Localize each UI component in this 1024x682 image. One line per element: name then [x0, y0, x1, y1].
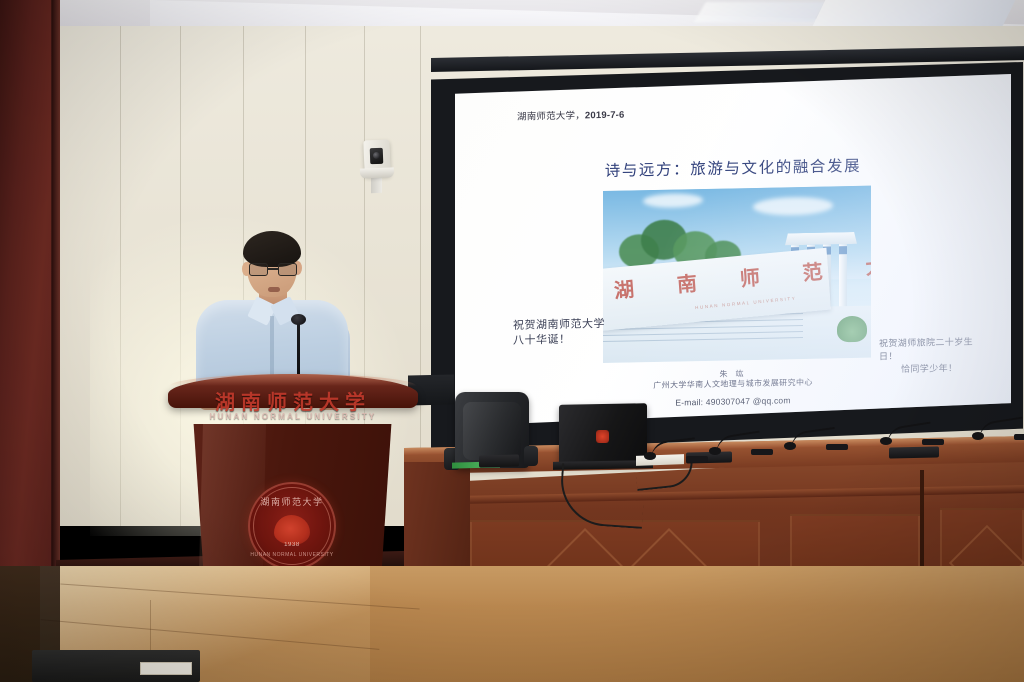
camera-hood [360, 167, 394, 178]
slide-header-org: 湖南师范大学， [517, 111, 585, 122]
floor-equipment-label [140, 662, 192, 675]
glasses-icon [249, 263, 297, 276]
podium-name-en: HUNAN NORMAL UNIVERSITY [168, 412, 418, 421]
lecture-hall-photo: 湖南师范大学，2019-7-6 诗与远方：旅游与文化的融合发展 [0, 0, 1024, 682]
slide-header: 湖南师范大学，2019-7-6 [517, 107, 625, 123]
presentation-slide: 湖南师范大学，2019-7-6 诗与远方：旅游与文化的融合发展 [455, 63, 1011, 426]
slide-note-right-line1: 祝贺湖师旅院二十岁生日！ [879, 337, 973, 362]
slide-title: 诗与远方：旅游与文化的融合发展 [455, 151, 1011, 184]
university-emblem-icon: 湖南师范大学 1938 HUNAN NORMAL UNIVERSITY [248, 482, 336, 570]
slide-email: E-mail: 490307047 @qq.com [455, 391, 1011, 412]
slide-header-date: 2019-7-6 [585, 110, 625, 122]
speaker-mouth [268, 287, 280, 292]
wood-column-edge [52, 0, 60, 596]
podium-name-cn: 湖南师范大学 [168, 386, 418, 415]
emblem-bird-icon [274, 515, 310, 545]
desk-equipment-box [479, 454, 519, 467]
photo-gate-inlay [839, 246, 847, 254]
ceiling-light-secondary [694, 2, 826, 22]
emblem-year: 1938 [248, 542, 336, 548]
laptop-logo-icon [596, 430, 609, 443]
desk-equipment-box [889, 446, 939, 458]
emblem-text-cn: 湖南师范大学 [248, 495, 336, 508]
speaker-hair [243, 231, 301, 267]
wood-column-left [0, 0, 56, 600]
chair-armrest [524, 446, 538, 466]
podium-microphone-stem [297, 320, 300, 382]
slide-note-left: 祝贺湖南师范大学八十华诞！ [513, 317, 605, 349]
photo-shrub [837, 316, 867, 343]
slide-photo-campus-gate: 湖 南 师 范 大 学 HUNAN NORMAL UNIVERSITY [603, 186, 871, 363]
podium-microphone-icon [291, 314, 306, 325]
emblem-text-en: HUNAN NORMAL UNIVERSITY [248, 552, 336, 558]
camera-lens-icon [370, 148, 384, 164]
